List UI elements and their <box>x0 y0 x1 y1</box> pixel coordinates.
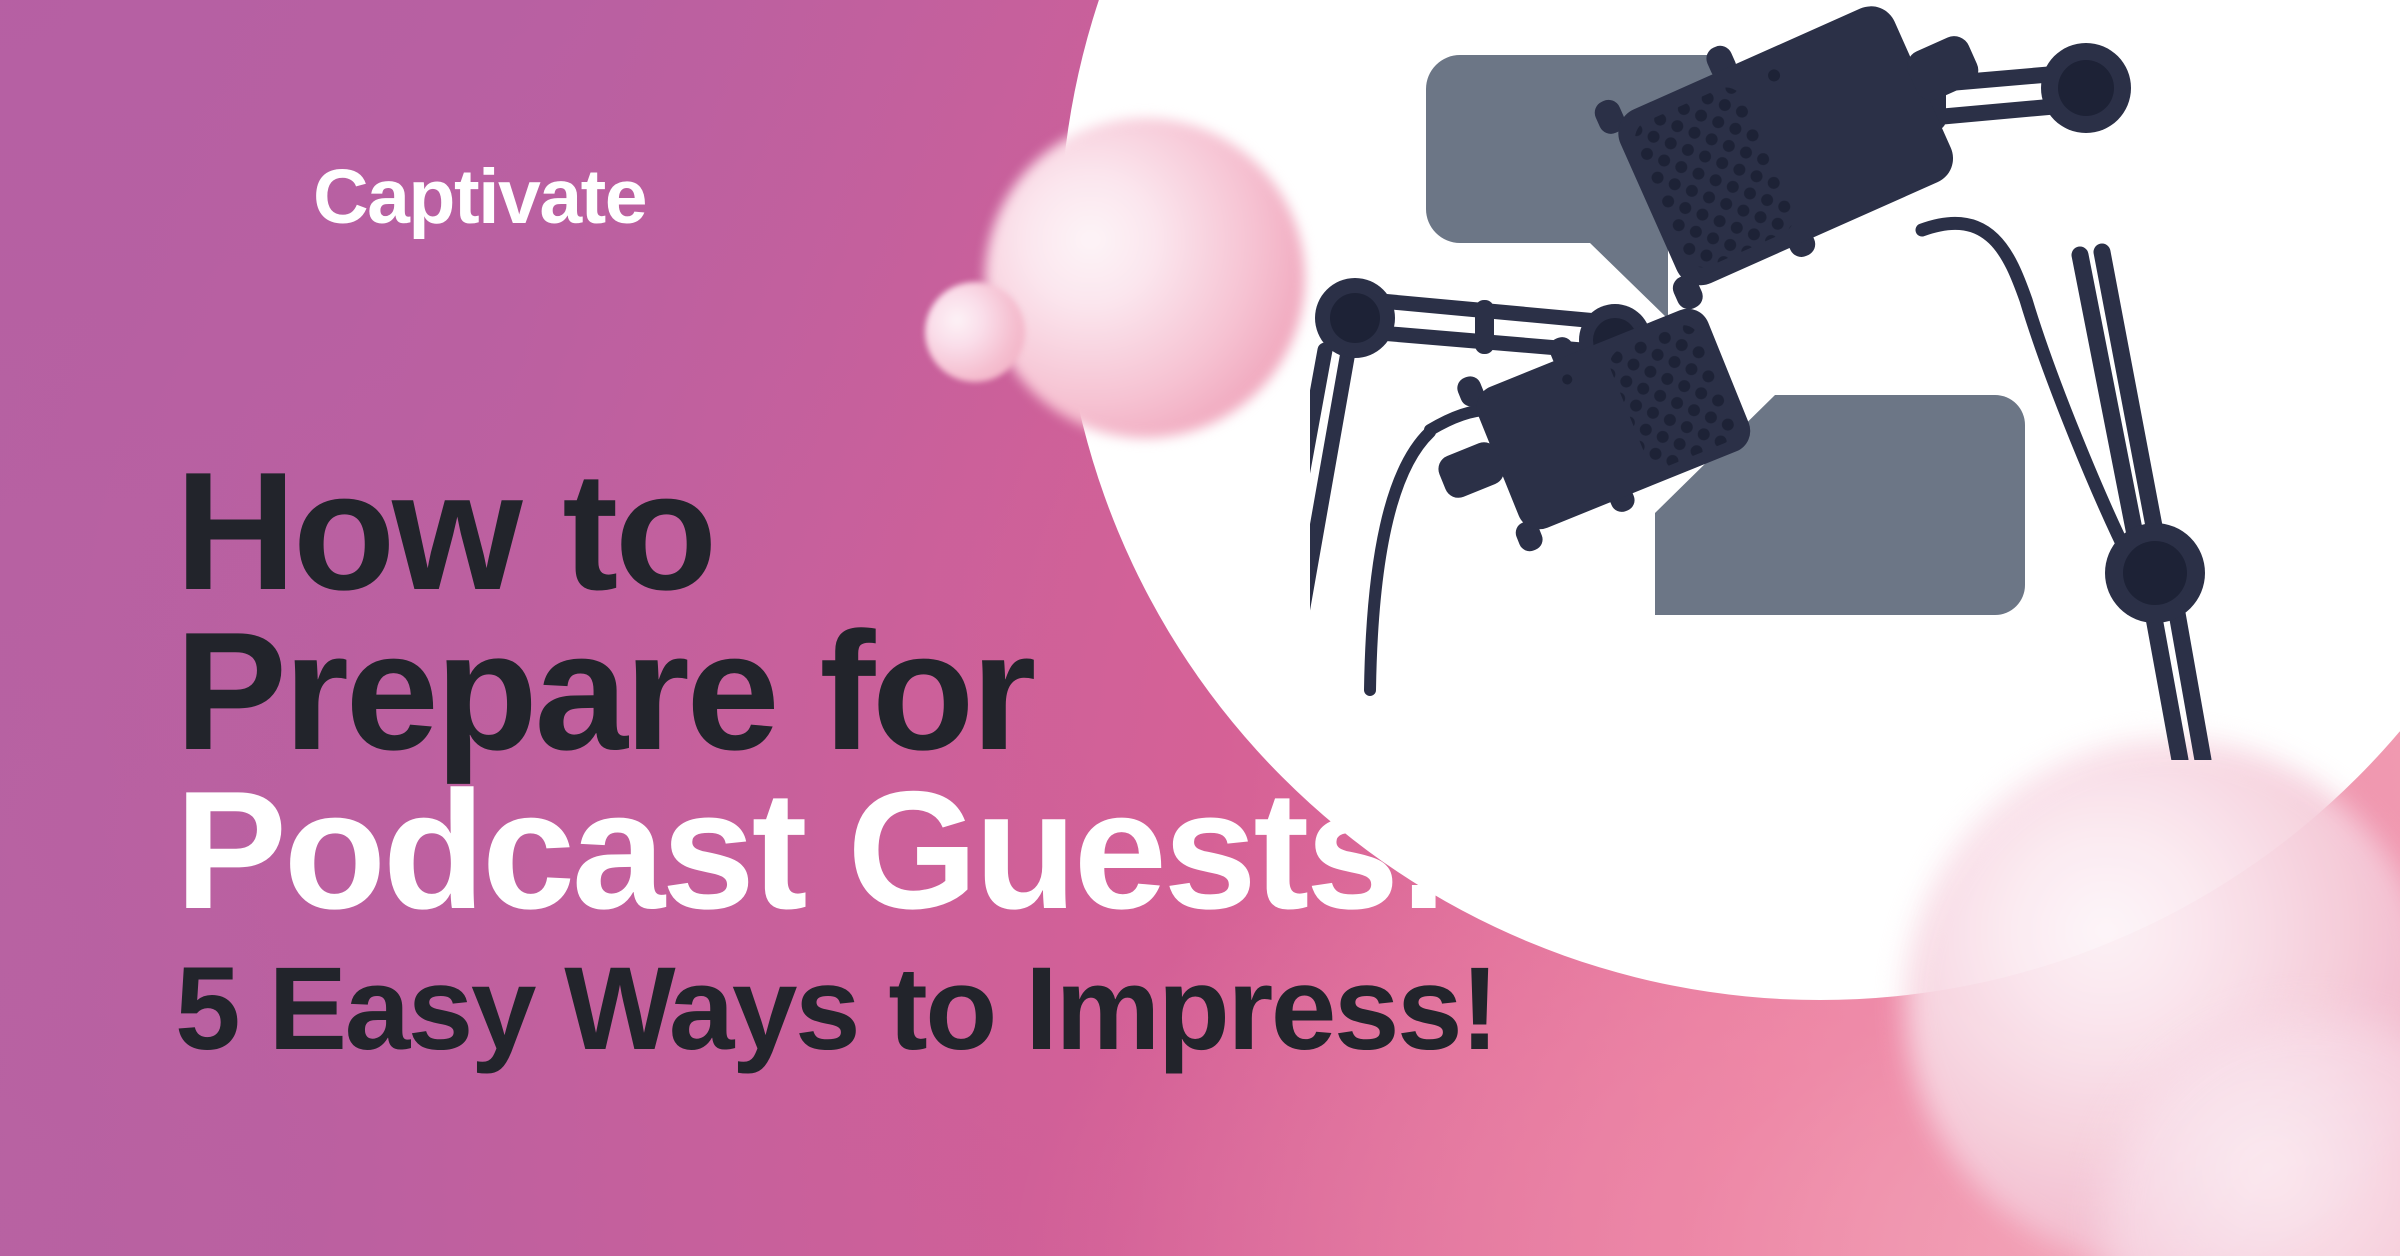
headline-block: How to Prepare for Podcast Guests: 5 Eas… <box>175 452 1575 1069</box>
headline-line-2: Prepare for <box>175 612 1575 772</box>
captivate-wordmark: Captivate <box>313 159 646 236</box>
headline-subline: 5 Easy Ways to Impress! <box>175 949 1575 1069</box>
promo-banner: Captivate How to Prepare for Podcast Gue… <box>0 0 2400 1256</box>
headline-line-3: Podcast Guests: <box>175 771 1575 931</box>
captivate-logo[interactable]: Captivate <box>175 143 646 251</box>
bubble-small <box>925 282 1025 382</box>
headline-line-1: How to <box>175 452 1575 612</box>
bubble-large <box>985 118 1305 438</box>
captivate-spiral-icon <box>175 143 283 251</box>
